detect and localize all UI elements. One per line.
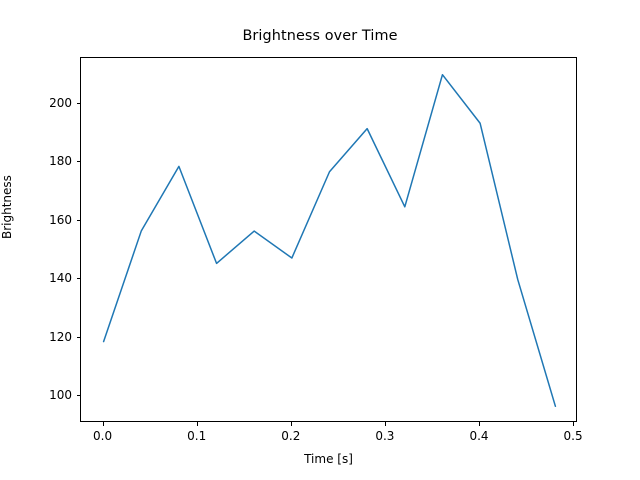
plot-area	[80, 57, 577, 422]
x-tick-label: 0.3	[375, 429, 394, 443]
y-tick-label: 140	[40, 271, 72, 285]
y-tick-label: 120	[40, 330, 72, 344]
y-tick-label: 200	[40, 96, 72, 110]
x-tick-label: 0.4	[469, 429, 488, 443]
chart-title: Brightness over Time	[0, 28, 640, 44]
x-tick-label: 0.5	[564, 429, 583, 443]
x-tick-label: 0.2	[281, 429, 300, 443]
brightness-line-series	[104, 75, 556, 407]
y-axis-label: Brightness	[0, 175, 14, 239]
y-tick-label: 100	[40, 388, 72, 402]
x-tick-label: 0.0	[93, 429, 112, 443]
y-tick-label: 160	[40, 213, 72, 227]
y-tick-label: 180	[40, 154, 72, 168]
plot-svg	[81, 58, 578, 423]
x-tick-label: 0.1	[187, 429, 206, 443]
x-axis-label: Time [s]	[80, 452, 577, 466]
figure-canvas: Brightness over Time Brightness Time [s]…	[0, 0, 640, 480]
